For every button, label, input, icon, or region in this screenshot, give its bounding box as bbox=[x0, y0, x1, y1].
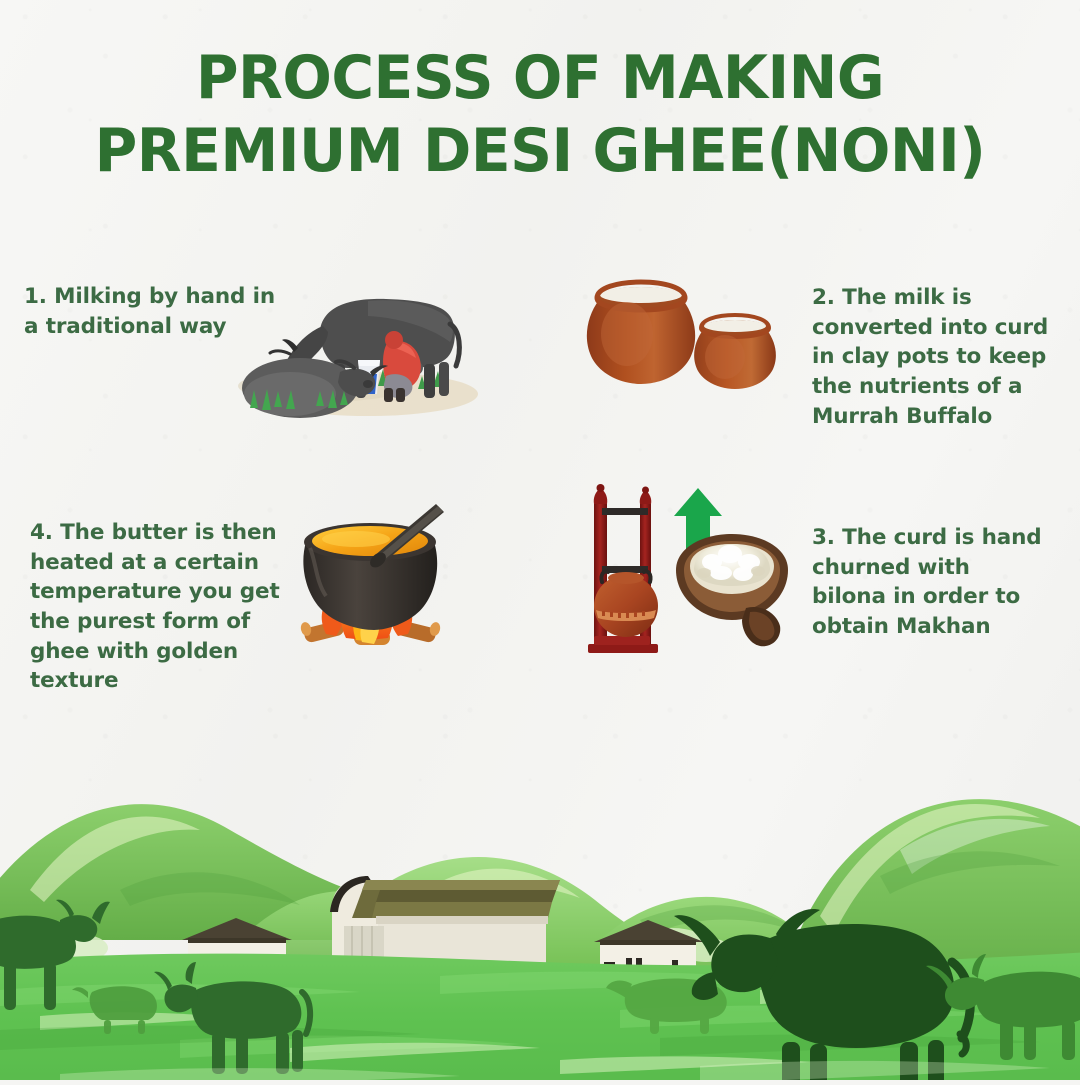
makhan-coconut-bowl bbox=[676, 534, 788, 646]
infographic-poster: PROCESS OF MAKING PREMIUM DESI GHEE(NONI… bbox=[0, 0, 1080, 1080]
small-clay-pot bbox=[694, 315, 776, 389]
step-2-text: 2. The milk is converted into curd in cl… bbox=[812, 283, 1062, 431]
title-line-1: PROCESS OF MAKING bbox=[16, 42, 1064, 115]
step-4-text: 4. The butter is then heated at a certai… bbox=[30, 518, 298, 696]
step-3-text: 3. The curd is hand churned with bilona … bbox=[812, 523, 1042, 642]
clay-pots-illustration bbox=[575, 272, 795, 394]
buffalo-milking-illustration bbox=[228, 268, 488, 420]
ghee-cauldron-on-fire-illustration bbox=[292, 498, 452, 660]
page-title: PROCESS OF MAKING PREMIUM DESI GHEE(NONI… bbox=[16, 42, 1064, 188]
bilona-churner bbox=[588, 484, 658, 653]
title-line-2: PREMIUM DESI GHEE(NONI) bbox=[16, 115, 1064, 188]
village-pasture-landscape bbox=[0, 690, 1080, 1080]
large-clay-pot bbox=[587, 282, 695, 384]
bilona-churner-and-makhan-coconut-illustration bbox=[580, 478, 800, 660]
